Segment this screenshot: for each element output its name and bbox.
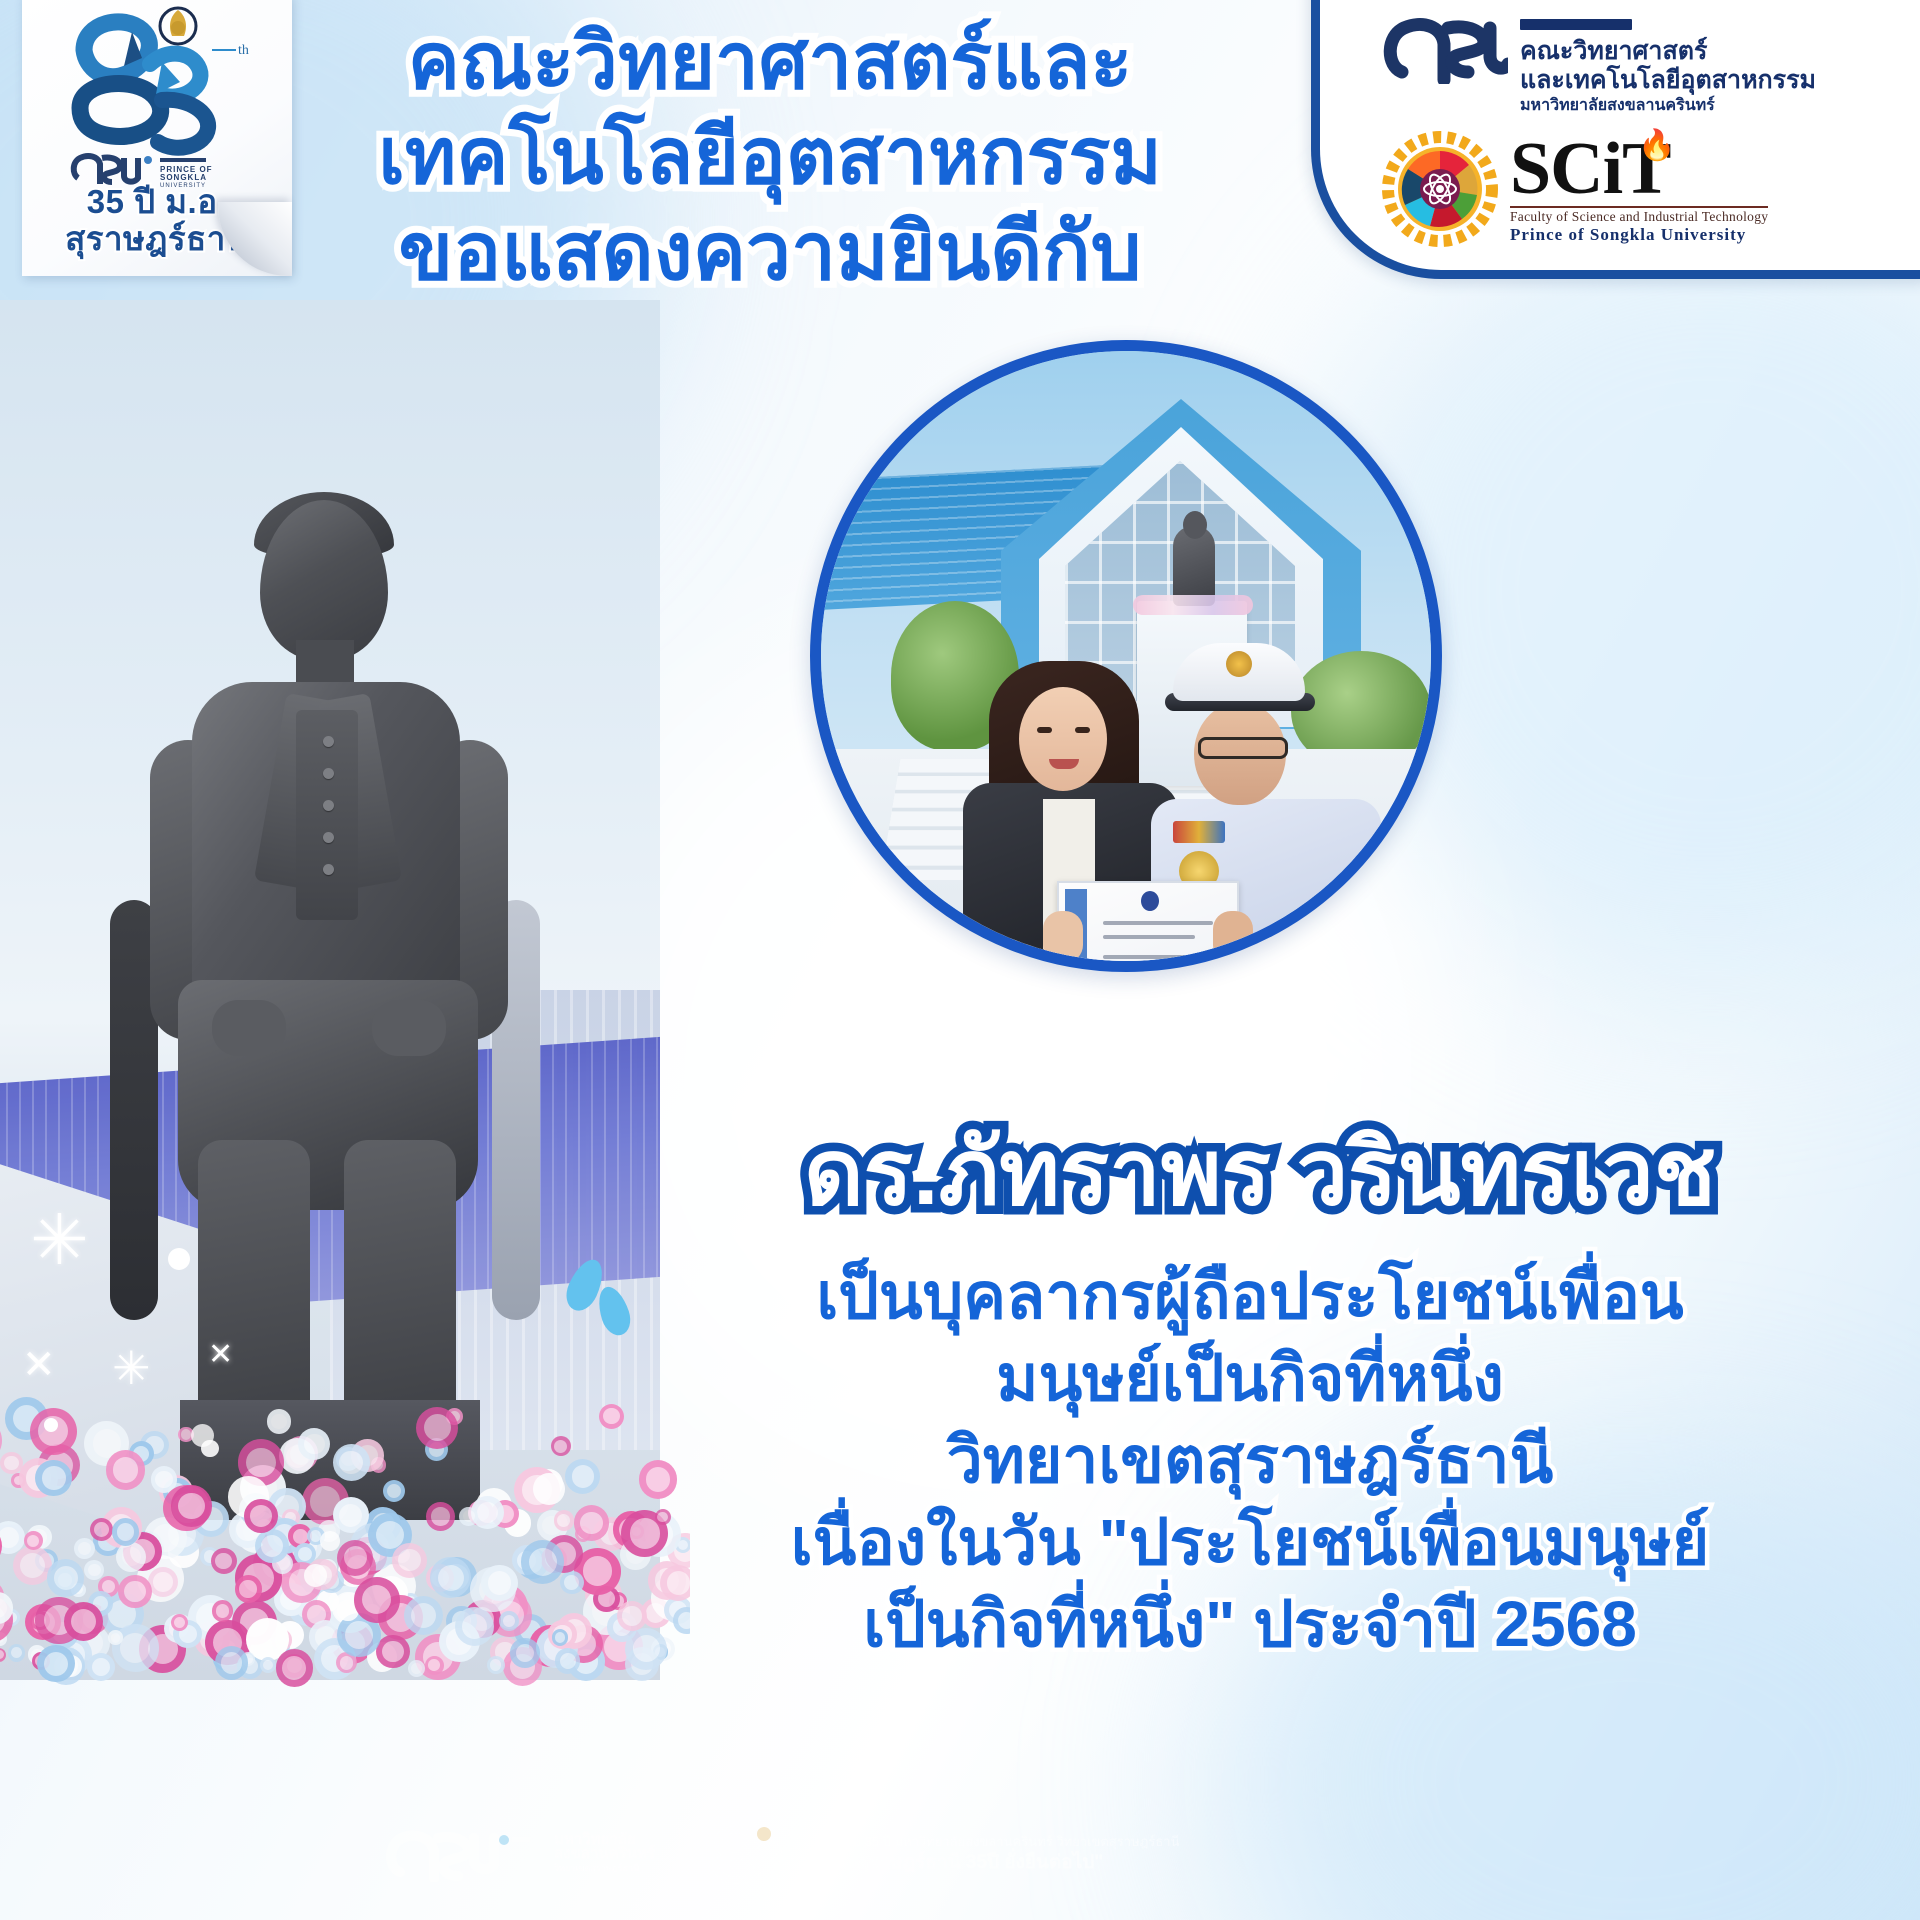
flower [244, 1499, 278, 1533]
flame-icon: 🔥 [1638, 128, 1675, 163]
flower [112, 1518, 139, 1545]
photo-woman-eye [1075, 727, 1090, 733]
faculty-name-line2: และเทคโนโลยีอุตสาหกรรม [1520, 66, 1816, 95]
photo-woman-hand [1043, 911, 1083, 963]
photo-woman-eye [1037, 727, 1052, 733]
svg-text:th: th [238, 43, 249, 58]
flower [106, 1450, 145, 1489]
flower [426, 1502, 455, 1531]
flower [455, 1607, 494, 1646]
flower [551, 1436, 571, 1456]
footer-slogan: ครบรอบ 35 ปี มหาวิทยาลัยสงขลานครินทร์ วิ… [814, 1833, 1180, 1875]
flower [481, 1565, 518, 1602]
flower [0, 1648, 6, 1662]
footer-divider [679, 1828, 680, 1880]
scit-university-en: Prince of Songkla University [1510, 225, 1768, 245]
flower [383, 1480, 405, 1502]
ceremony-photo-circle [810, 340, 1442, 972]
footer-campus: วิทยาเขตสุราษฎร์ธานี [554, 1861, 655, 1875]
flower [354, 1577, 400, 1623]
flower [404, 1596, 443, 1635]
psu-accent-bar [1520, 19, 1632, 30]
flower [87, 1653, 115, 1681]
flower [376, 1635, 409, 1668]
poster-canvas: ✳ ✕ ✳ ✕ th [0, 0, 1920, 1920]
flower [320, 1531, 340, 1551]
certificate-seal-icon [1141, 891, 1159, 911]
statue-button [323, 736, 334, 747]
anniversary-sticker: th PRINCE OF SONGKLA UNIVERSITY 35 ปี ม.… [22, 0, 292, 276]
scit-logo: SCiT 🔥 Faculty of Science and Industrial… [1380, 129, 1912, 249]
dot-decoration [168, 1248, 190, 1270]
flower [24, 1531, 43, 1550]
flower [533, 1473, 565, 1505]
statue-button [323, 832, 334, 843]
flower [8, 1644, 25, 1661]
body-text-block: เป็นบุคลากรผู้ถือประโยชน์เพื่อน มนุษย์เป… [580, 1255, 1920, 1665]
flower [215, 1646, 248, 1679]
flower [487, 1656, 505, 1674]
flower [74, 1538, 95, 1559]
faculty-name-line1: คณะวิทยาศาสตร์ [1520, 37, 1816, 66]
statue-hand-left [212, 1000, 286, 1056]
flower [298, 1428, 330, 1460]
flower [521, 1540, 565, 1584]
statue-button [323, 800, 334, 811]
flower [255, 1529, 289, 1563]
flower [118, 1575, 152, 1609]
psu-logomark-icon [1380, 10, 1508, 84]
flower [510, 1638, 539, 1667]
scit-subtitle-en: Faculty of Science and Industrial Techno… [1510, 209, 1768, 225]
body-line5: เป็นกิจที่หนึ่ง" ประจำปี 2568 [580, 1583, 1920, 1665]
university-name-th: มหาวิทยาลัยสงขลานครินทร์ [1520, 95, 1816, 117]
flower [35, 1460, 72, 1497]
photo-officer-glasses [1198, 737, 1288, 759]
flower [392, 1543, 427, 1578]
flower [499, 1611, 518, 1630]
footer-slogan-main: "ม.อ.สุราษฎร์ธานี 35ปี ยั่งยืนต่อไป" [814, 1851, 1180, 1875]
body-line4: เนื่องในวัน "ประโยชน์เพื่อนมนุษย์ [580, 1501, 1920, 1583]
flower [212, 1600, 233, 1621]
flower [408, 1660, 425, 1677]
flower [554, 1510, 574, 1530]
footer-psu-logo-icon [380, 1826, 530, 1882]
statue-figure [120, 500, 540, 1500]
photo-woman-face [1019, 687, 1107, 791]
photo-officer-ribbon [1173, 821, 1225, 843]
statue-button [323, 864, 334, 875]
certificate-text-line [1103, 955, 1219, 959]
body-line2: มนุษย์เป็นกิจที่หนึ่ง [580, 1337, 1920, 1419]
headline-line3: ขอแสดงความยินดีกับ [300, 204, 1240, 299]
footer-bar: มหาวิทยาลัย สงขลานครินทร์ วิทยาเขตสุราษฎ… [380, 1808, 1540, 1900]
honoree-name: ดร.ภัทราพร วรินทรเวช [610, 1118, 1910, 1228]
headline-line2: เทคโนโลยีอุตสาหกรรม [300, 109, 1240, 204]
photo-certificate [1057, 881, 1239, 972]
photo-mini-statue-head [1183, 511, 1207, 539]
headline-line1: คณะวิทยาศาสตร์และ [300, 14, 1240, 109]
flower [211, 1548, 237, 1574]
flower [459, 1507, 478, 1526]
flower [304, 1564, 327, 1587]
flower [235, 1575, 262, 1602]
page-curl-decoration [218, 202, 292, 276]
certificate-text-line [1103, 935, 1195, 939]
statue-button [323, 768, 334, 779]
headline-block: คณะวิทยาศาสตร์และ เทคโนโลยีอุตสาหกรรม ขอ… [300, 14, 1240, 299]
photo-officer-hand [1213, 911, 1253, 963]
psu-faculty-logo: คณะวิทยาศาสตร์ และเทคโนโลยีอุตสาหกรรม มห… [1380, 10, 1912, 117]
flower [333, 1444, 370, 1481]
anniversary-35-logo-icon: th [50, 4, 264, 164]
flower [116, 1542, 146, 1572]
flower [37, 1645, 75, 1683]
svg-text:SONGKLA: SONGKLA [160, 173, 207, 182]
body-line3: วิทยาเขตสุราษฎร์ธานี [580, 1419, 1920, 1501]
footer-35-logo-icon [704, 1822, 790, 1886]
logo-panel: คณะวิทยาศาสตร์ และเทคโนโลยีอุตสาหกรรม มห… [1311, 0, 1920, 279]
flower [64, 1602, 103, 1641]
dot-decoration [44, 1418, 58, 1432]
footer-slogan-small: ครบรอบ 35 ปี มหาวิทยาลัยสงขลานครินทร์ วิ… [814, 1833, 1180, 1851]
flower [337, 1540, 373, 1576]
flower [416, 1407, 458, 1449]
flower [267, 1409, 292, 1434]
photo-flower-garland [1133, 595, 1253, 615]
flower [260, 1657, 276, 1673]
flower [276, 1649, 314, 1687]
flower [555, 1648, 580, 1673]
statue-hand-right [372, 1000, 446, 1056]
flower [171, 1485, 212, 1526]
flower [47, 1559, 84, 1596]
flower [171, 1614, 188, 1631]
certificate-text-line [1103, 921, 1213, 925]
sdg-gear-icon [1380, 129, 1500, 249]
body-line1: เป็นบุคลากรผู้ถือประโยชน์เพื่อน [580, 1255, 1920, 1337]
footer-university-text: มหาวิทยาลัย สงขลานครินทร์ วิทยาเขตสุราษฎ… [554, 1833, 655, 1875]
flower [425, 1656, 443, 1674]
footer-university-line2: สงขลานครินทร์ [554, 1847, 655, 1861]
photo-officer-cap-emblem [1226, 651, 1252, 677]
